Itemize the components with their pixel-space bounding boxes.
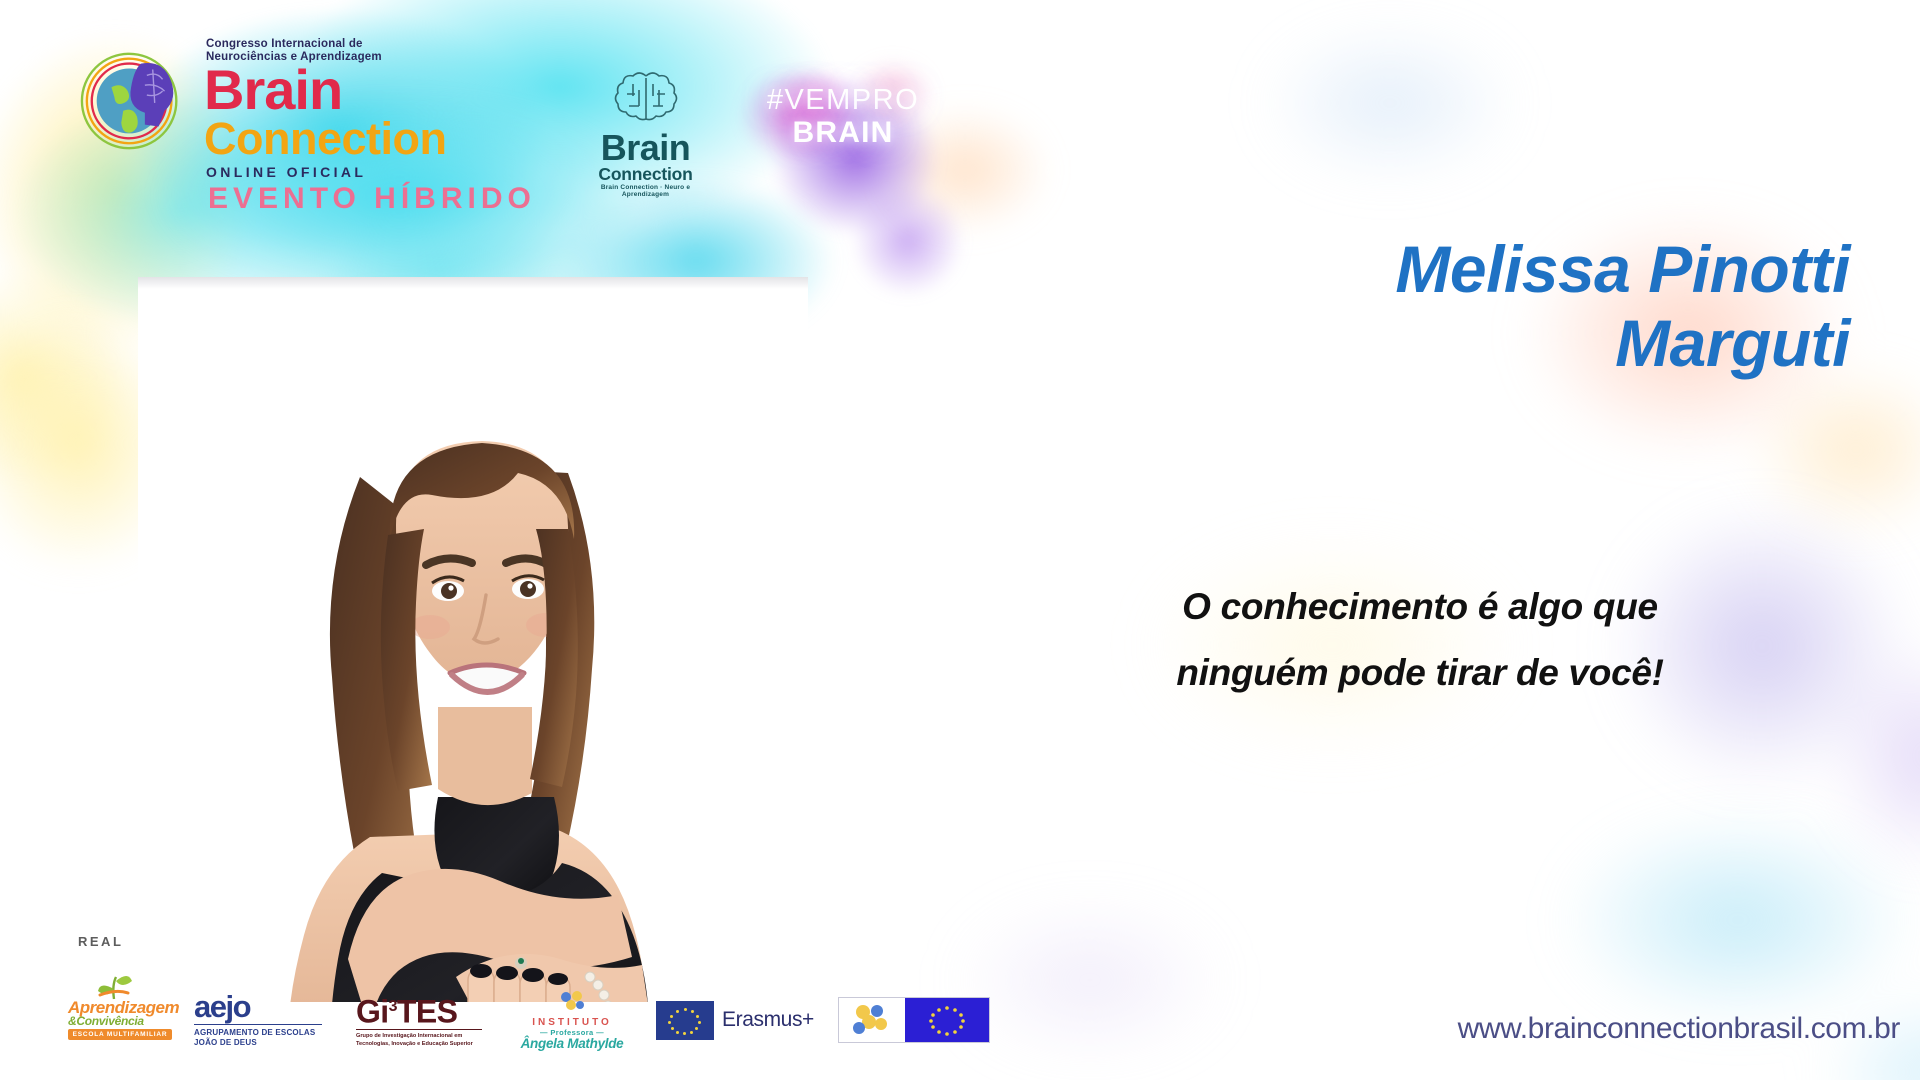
event-logo-wordmark: Congresso Internacional de Neurociências… bbox=[198, 30, 528, 180]
sponsor-aprendizagem-word1: Aprendizagem bbox=[68, 1001, 172, 1015]
hashtag-vempro-brain: #VEMPRO BRAIN bbox=[738, 84, 948, 150]
sponsor-instituto-name: Ângela Mathylde bbox=[510, 1037, 634, 1051]
sponsor-aprendizagem-bar: ESCOLA MULTIFAMILIAR bbox=[68, 1029, 172, 1040]
sponsor-gi3tes-word: Gi3TES bbox=[356, 992, 488, 1027]
slide-canvas: Congresso Internacional de Neurociências… bbox=[0, 0, 1920, 1080]
quote-line2: ninguém pode tirar de você! bbox=[1020, 640, 1820, 706]
eu-cofunded-emblem bbox=[839, 998, 905, 1042]
sponsor-gi3tes-sup: 3 bbox=[389, 998, 397, 1015]
sponsor-logo-aejo: aejo AGRUPAMENTO DE ESCOLAS JOÃO DE DEUS bbox=[194, 993, 334, 1048]
speaker-name: Melissa Pinotti Marguti bbox=[1110, 232, 1850, 380]
event-logo: Congresso Internacional de Neurociências… bbox=[78, 30, 638, 215]
quote-line1: O conhecimento é algo que bbox=[1020, 574, 1820, 640]
sponsor-instituto-word: INSTITUTO bbox=[510, 1017, 634, 1028]
eu-flag-icon bbox=[656, 1001, 714, 1040]
sprout-icon bbox=[94, 971, 134, 1001]
logo-online-label: ONLINE OFICIAL bbox=[206, 164, 528, 180]
secondary-logo-brain: Brain bbox=[578, 131, 713, 165]
logo-word-connection: Connection bbox=[204, 116, 528, 162]
speaker-portrait-illustration bbox=[138, 277, 808, 1002]
sponsor-gi3tes-sub-line1: Grupo de Investigação Internacional em bbox=[356, 1033, 488, 1041]
realization-label: REAL bbox=[78, 934, 123, 949]
sponsor-logo-erasmus: Erasmus+ bbox=[656, 1001, 816, 1040]
sponsor-gi3tes-i: i bbox=[380, 993, 388, 1029]
brain-outline-icon bbox=[609, 68, 683, 126]
hashtag-line2: BRAIN bbox=[738, 116, 948, 150]
sponsor-aejo-word: aejo bbox=[194, 993, 334, 1021]
website-url[interactable]: www.brainconnectionbrasil.com.br bbox=[1200, 1012, 1900, 1046]
sponsor-gi3tes-rest: TES bbox=[397, 993, 457, 1029]
hashtag-line1: #VEMPRO bbox=[738, 84, 948, 116]
sponsor-aejo-sub-line2: JOÃO DE DEUS bbox=[194, 1038, 334, 1048]
speaker-photo bbox=[138, 277, 808, 1002]
logo-word-brain: Brain bbox=[204, 64, 528, 116]
eu-cofunded-flag bbox=[905, 998, 989, 1042]
sponsor-logo-aprendizagem: Aprendizagem &Convivência ESCOLA MULTIFA… bbox=[68, 1001, 172, 1040]
sponsor-logo-gi3tes: Gi3TES Grupo de Investigação Internacion… bbox=[356, 992, 488, 1049]
sponsor-aejo-sub-line1: AGRUPAMENTO DE ESCOLAS bbox=[194, 1028, 334, 1038]
sponsor-logo-instituto: INSTITUTO — Professora — Ângela Mathylde bbox=[510, 989, 634, 1051]
sponsor-aejo-sub: AGRUPAMENTO DE ESCOLAS JOÃO DE DEUS bbox=[194, 1028, 334, 1048]
speaker-name-line2: Marguti bbox=[1110, 306, 1850, 380]
speaker-name-line1: Melissa Pinotti bbox=[1110, 232, 1850, 306]
secondary-logo-sub: Brain Connection · Neuro e Aprendizagem bbox=[578, 184, 713, 198]
globe-brain-icon bbox=[78, 40, 196, 158]
flower-icon bbox=[557, 989, 587, 1015]
event-tagline-line1: Congresso Internacional de bbox=[206, 38, 528, 51]
background-blue-top-right bbox=[1180, 0, 1600, 220]
secondary-logo-connection: Connection bbox=[578, 165, 713, 183]
sponsor-erasmus-word: Erasmus+ bbox=[722, 1008, 814, 1032]
sponsor-logo-row: Aprendizagem &Convivência ESCOLA MULTIFA… bbox=[68, 975, 990, 1065]
speaker-quote: O conhecimento é algo que ninguém pode t… bbox=[1020, 574, 1820, 706]
sponsor-gi3tes-g: G bbox=[356, 993, 380, 1029]
sponsor-logo-eu-cofunded bbox=[838, 997, 990, 1043]
sponsor-gi3tes-rule bbox=[356, 1029, 482, 1030]
secondary-brain-connection-logo: Brain Connection Brain Connection · Neur… bbox=[578, 68, 713, 198]
background-pink-splash bbox=[720, 30, 960, 270]
sponsor-gi3tes-sub-line2: Tecnologias, Inovação e Educação Superio… bbox=[356, 1041, 488, 1049]
sponsor-gi3tes-sub: Grupo de Investigação Internacional em T… bbox=[356, 1033, 488, 1048]
event-type-label: EVENTO HÍBRIDO bbox=[208, 182, 536, 216]
sponsor-aejo-rule bbox=[194, 1024, 322, 1025]
